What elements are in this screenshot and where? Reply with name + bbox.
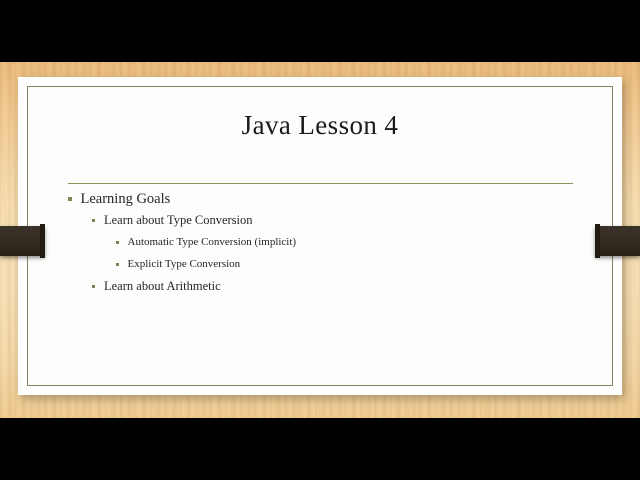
right-bracket-cap <box>595 224 600 258</box>
title-divider-rule <box>68 183 573 184</box>
bullet-label: Explicit Type Conversion <box>128 255 241 273</box>
right-bracket-ornament-icon <box>595 226 640 256</box>
letterbox-top <box>0 0 640 62</box>
bullet-item: Explicit Type Conversion <box>18 255 622 277</box>
bullet-dot-icon <box>92 285 95 288</box>
letterbox-bottom <box>0 418 640 480</box>
bullet-dot-icon <box>116 263 119 266</box>
bullet-item: Learning Goals <box>18 189 622 211</box>
bullet-label: Learn about Arithmetic <box>104 277 221 296</box>
slide-title: Java Lesson 4 <box>18 111 622 141</box>
left-bracket-ornament-icon <box>0 226 45 256</box>
slide-panel: Java Lesson 4 Learning Goals Learn about… <box>18 77 622 395</box>
bullet-list: Learning Goals Learn about Type Conversi… <box>18 189 622 299</box>
presentation-viewer: Java Lesson 4 Learning Goals Learn about… <box>0 0 640 480</box>
bullet-dot-icon <box>68 197 72 201</box>
bullet-item: Learn about Arithmetic <box>18 277 622 299</box>
slide-content: Java Lesson 4 Learning Goals Learn about… <box>18 77 622 395</box>
bullet-item: Automatic Type Conversion (implicit) <box>18 233 622 255</box>
bullet-dot-icon <box>116 241 119 244</box>
bullet-dot-icon <box>92 219 95 222</box>
left-bracket-cap <box>40 224 45 258</box>
bullet-label: Learn about Type Conversion <box>104 211 253 230</box>
bullet-item: Learn about Type Conversion <box>18 211 622 233</box>
bullet-label: Learning Goals <box>81 189 171 209</box>
bullet-label: Automatic Type Conversion (implicit) <box>128 233 297 251</box>
